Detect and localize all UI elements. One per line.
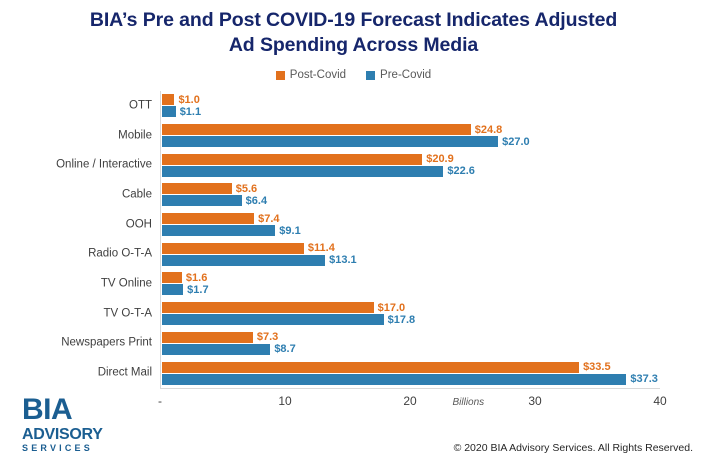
chart-category-row: Radio O-T-A$11.4$13.1 [161,239,660,269]
square-swatch [366,71,375,80]
bar-series-pre-covid[interactable]: $8.7 [162,344,660,355]
bar-value-label: $13.1 [329,254,357,266]
bar-value-label: $7.3 [257,331,278,343]
bar-value-label: $24.8 [475,124,503,136]
bar-value-label: $8.7 [274,343,295,355]
bar-group: $1.6$1.7 [162,269,660,299]
bar[interactable] [162,314,384,325]
bar-value-label: $1.1 [180,106,201,118]
bar-series-post-covid[interactable]: $33.5 [162,362,660,373]
bar[interactable] [162,332,253,343]
bar[interactable] [162,154,422,165]
bar-value-label: $37.3 [630,373,658,385]
category-label: TV Online [101,277,152,290]
bar[interactable] [162,374,626,385]
green-swoosh-icon [49,392,66,403]
chart-category-row: Mobile$24.8$27.0 [161,121,660,151]
bar-series-pre-covid[interactable]: $1.7 [162,284,660,295]
bar[interactable] [162,106,176,117]
chart-legend: Post-CovidPre-Covid [0,67,707,83]
category-label: OTT [129,99,152,112]
bar[interactable] [162,302,374,313]
category-label: Mobile [118,129,152,142]
bar-series-post-covid[interactable]: $1.6 [162,272,660,283]
bar-value-label: $1.6 [186,272,207,284]
bar-value-label: $33.5 [583,361,611,373]
title-line-1: BIA’s Pre and Post COVID-19 Forecast Ind… [44,8,663,33]
category-label: Cable [122,188,152,201]
bar-value-label: $20.9 [426,153,454,165]
bar-group: $5.6$6.4 [162,180,660,210]
bar[interactable] [162,94,174,105]
bar-group: $11.4$13.1 [162,239,660,269]
legend-item-label: Pre-Covid [380,69,431,81]
bar[interactable] [162,136,498,147]
legend-item: Pre-Covid [366,69,431,81]
category-label: TV O-T-A [103,307,152,320]
chart-plot-wrapper: OTT$1.0$1.1Mobile$24.8$27.0Online / Inte… [0,91,707,391]
category-label: Newspapers Print [61,337,152,350]
bar-series-post-covid[interactable]: $11.4 [162,243,660,254]
bar-group: $24.8$27.0 [162,121,660,151]
bar-value-label: $17.0 [378,302,406,314]
bar-value-label: $22.6 [447,165,475,177]
bar[interactable] [162,195,242,206]
bar-series-pre-covid[interactable]: $1.1 [162,106,660,117]
category-label: OOH [126,218,152,231]
bar-group: $7.4$9.1 [162,210,660,240]
logo-services-text: SERVICES [22,443,134,454]
category-label: Direct Mail [98,367,152,380]
bia-logo: BIA ADVISORY SERVICES [22,395,134,453]
bar-value-label: $5.6 [236,183,257,195]
bar[interactable] [162,183,232,194]
bar[interactable] [162,272,182,283]
bar-value-label: $7.4 [258,213,279,225]
bar[interactable] [162,362,579,373]
bar-value-label: $9.1 [279,225,300,237]
logo-advisory-text: ADVISORY [22,426,134,443]
copyright-text: © 2020 BIA Advisory Services. All Rights… [454,442,693,454]
bar-series-post-covid[interactable]: $24.8 [162,124,660,135]
logo-wordmark: BIA [22,395,134,425]
bar-value-label: $6.4 [246,195,267,207]
category-label: Online / Interactive [56,159,152,172]
bar[interactable] [162,124,471,135]
bar[interactable] [162,243,304,254]
chart-category-row: Direct Mail$33.5$37.3 [161,358,660,388]
bar[interactable] [162,213,254,224]
legend-item-label: Post-Covid [290,69,346,81]
chart-category-row: Online / Interactive$20.9$22.6 [161,150,660,180]
bar-series-post-covid[interactable]: $17.0 [162,302,660,313]
bar-series-post-covid[interactable]: $5.6 [162,183,660,194]
title-line-2: Ad Spending Across Media [44,33,663,58]
bar[interactable] [162,166,443,177]
bar-series-post-covid[interactable]: $20.9 [162,154,660,165]
bar-series-pre-covid[interactable]: $9.1 [162,225,660,236]
bar-group: $7.3$8.7 [162,329,660,359]
bar-value-label: $1.7 [187,284,208,296]
page-title: BIA’s Pre and Post COVID-19 Forecast Ind… [0,0,707,58]
bar-group: $17.0$17.8 [162,299,660,329]
chart-category-row: Cable$5.6$6.4 [161,180,660,210]
bar-series-post-covid[interactable]: $1.0 [162,94,660,105]
bar[interactable] [162,284,183,295]
legend-item: Post-Covid [276,69,346,81]
bar-value-label: $27.0 [502,136,530,148]
footer: BIA ADVISORY SERVICES © 2020 BIA Advisor… [0,393,707,465]
bar-series-pre-covid[interactable]: $13.1 [162,255,660,266]
chart-category-row: Newspapers Print$7.3$8.7 [161,329,660,359]
chart-plot-area: OTT$1.0$1.1Mobile$24.8$27.0Online / Inte… [160,91,660,388]
bar-value-label: $17.8 [388,314,416,326]
bar-series-pre-covid[interactable]: $17.8 [162,314,660,325]
square-swatch [276,71,285,80]
bar[interactable] [162,255,325,266]
chart-category-row: OOH$7.4$9.1 [161,210,660,240]
bar-group: $1.0$1.1 [162,91,660,121]
chart-category-row: TV O-T-A$17.0$17.8 [161,299,660,329]
bar-group: $33.5$37.3 [162,358,660,388]
bar-series-pre-covid[interactable]: $37.3 [162,374,660,385]
bar-group: $20.9$22.6 [162,150,660,180]
bar-series-post-covid[interactable]: $7.4 [162,213,660,224]
bar-value-label: $1.0 [178,94,199,106]
chart-category-row: OTT$1.0$1.1 [161,91,660,121]
category-label: Radio O-T-A [88,248,152,261]
bar-series-pre-covid[interactable]: $6.4 [162,195,660,206]
chart-category-row: TV Online$1.6$1.7 [161,269,660,299]
bar-series-pre-covid[interactable]: $22.6 [162,166,660,177]
bar-series-pre-covid[interactable]: $27.0 [162,136,660,147]
bar-series-post-covid[interactable]: $7.3 [162,332,660,343]
bar[interactable] [162,344,270,355]
bar-value-label: $11.4 [308,242,335,254]
bar[interactable] [162,225,275,236]
